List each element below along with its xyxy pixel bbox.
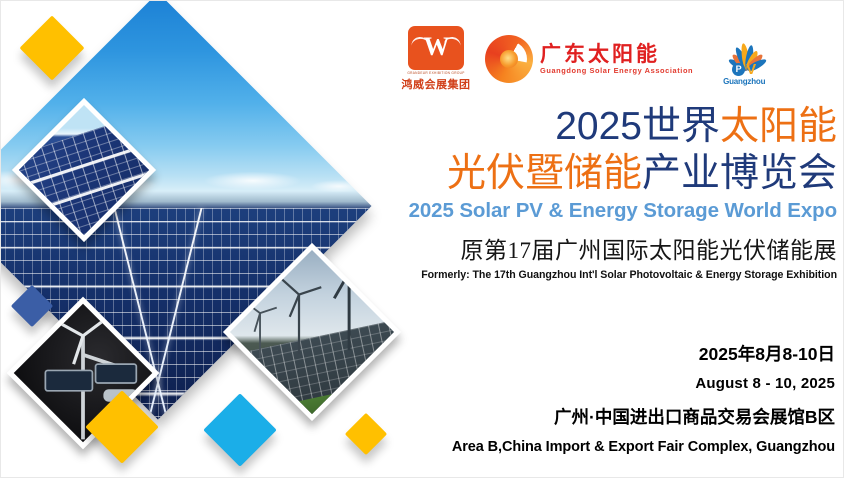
former-name-english: Formerly: The 17th Guangzhou Int'l Solar… (387, 269, 844, 281)
accent-diamond-yellow-top-left (19, 15, 84, 80)
date-and-venue-block: 2025年8月8-10日 August 8 - 10, 2025 广州·中国进出… (387, 341, 844, 455)
event-venue-chinese: 广州·中国进出口商品交易会展馆B区 (387, 404, 835, 429)
event-date-english: August 8 - 10, 2025 (387, 375, 835, 392)
pv-p-letter: P (732, 63, 745, 76)
headline-line1-orange: 太阳能 (720, 105, 837, 148)
event-date-chinese: 2025年8月8-10日 (387, 341, 835, 366)
event-venue-english: Area B,China Import & Export Fair Comple… (387, 439, 835, 455)
headline-english-subtitle: 2025 Solar PV & Energy Storage World Exp… (387, 199, 844, 223)
grandeur-w-letter: W (408, 33, 464, 61)
poster-content: W GRANDEUR EXHIBITION GROUP 鸿威会展集团 广东太阳能… (387, 1, 844, 478)
pv-v-letter: V (746, 63, 756, 76)
organizer-logo-row: W GRANDEUR EXHIBITION GROUP 鸿威会展集团 广东太阳能… (401, 25, 841, 93)
headline-block: 2025世界太阳能 光伏暨储能产业博览会 2025 Solar PV & Ene… (387, 103, 844, 281)
pv-city-label: Guangzhou (707, 77, 781, 86)
headline-line-1: 2025世界太阳能 (387, 103, 844, 150)
logo-guangdong-solar-energy-association: 广东太阳能 Guangdong Solar Energy Association (485, 35, 693, 83)
gdsea-chinese-name: 广东太阳能 (540, 43, 693, 65)
sun-swirl-icon (485, 35, 533, 83)
former-name-chinese: 原第17届广州国际太阳能光伏储能展 (387, 231, 844, 265)
grandeur-chinese-name: 鸿威会展集团 (401, 76, 471, 92)
headline-line2-orange: 光伏暨储能 (447, 152, 642, 195)
headline-line2-navy: 产业博览会 (642, 152, 837, 195)
logo-grandeur-exhibition-group: W GRANDEUR EXHIBITION GROUP 鸿威会展集团 (401, 26, 471, 92)
headline-line1-navy: 2025世界 (555, 105, 720, 148)
accent-diamond-cyan-bottom (203, 393, 277, 467)
logo-pv-guangzhou: P V Guangzhou (707, 32, 781, 86)
pv-guangzhou-wordmark: P V Guangzhou (707, 59, 781, 86)
grandeur-wings-icon: W (408, 26, 464, 70)
expo-poster: W GRANDEUR EXHIBITION GROUP 鸿威会展集团 广东太阳能… (0, 0, 844, 478)
diamond-photo-collage (1, 1, 421, 478)
gdsea-english-name: Guangdong Solar Energy Association (540, 67, 693, 75)
headline-line-2: 光伏暨储能产业博览会 (387, 150, 844, 197)
accent-diamond-yellow-bottom-right (345, 413, 387, 455)
